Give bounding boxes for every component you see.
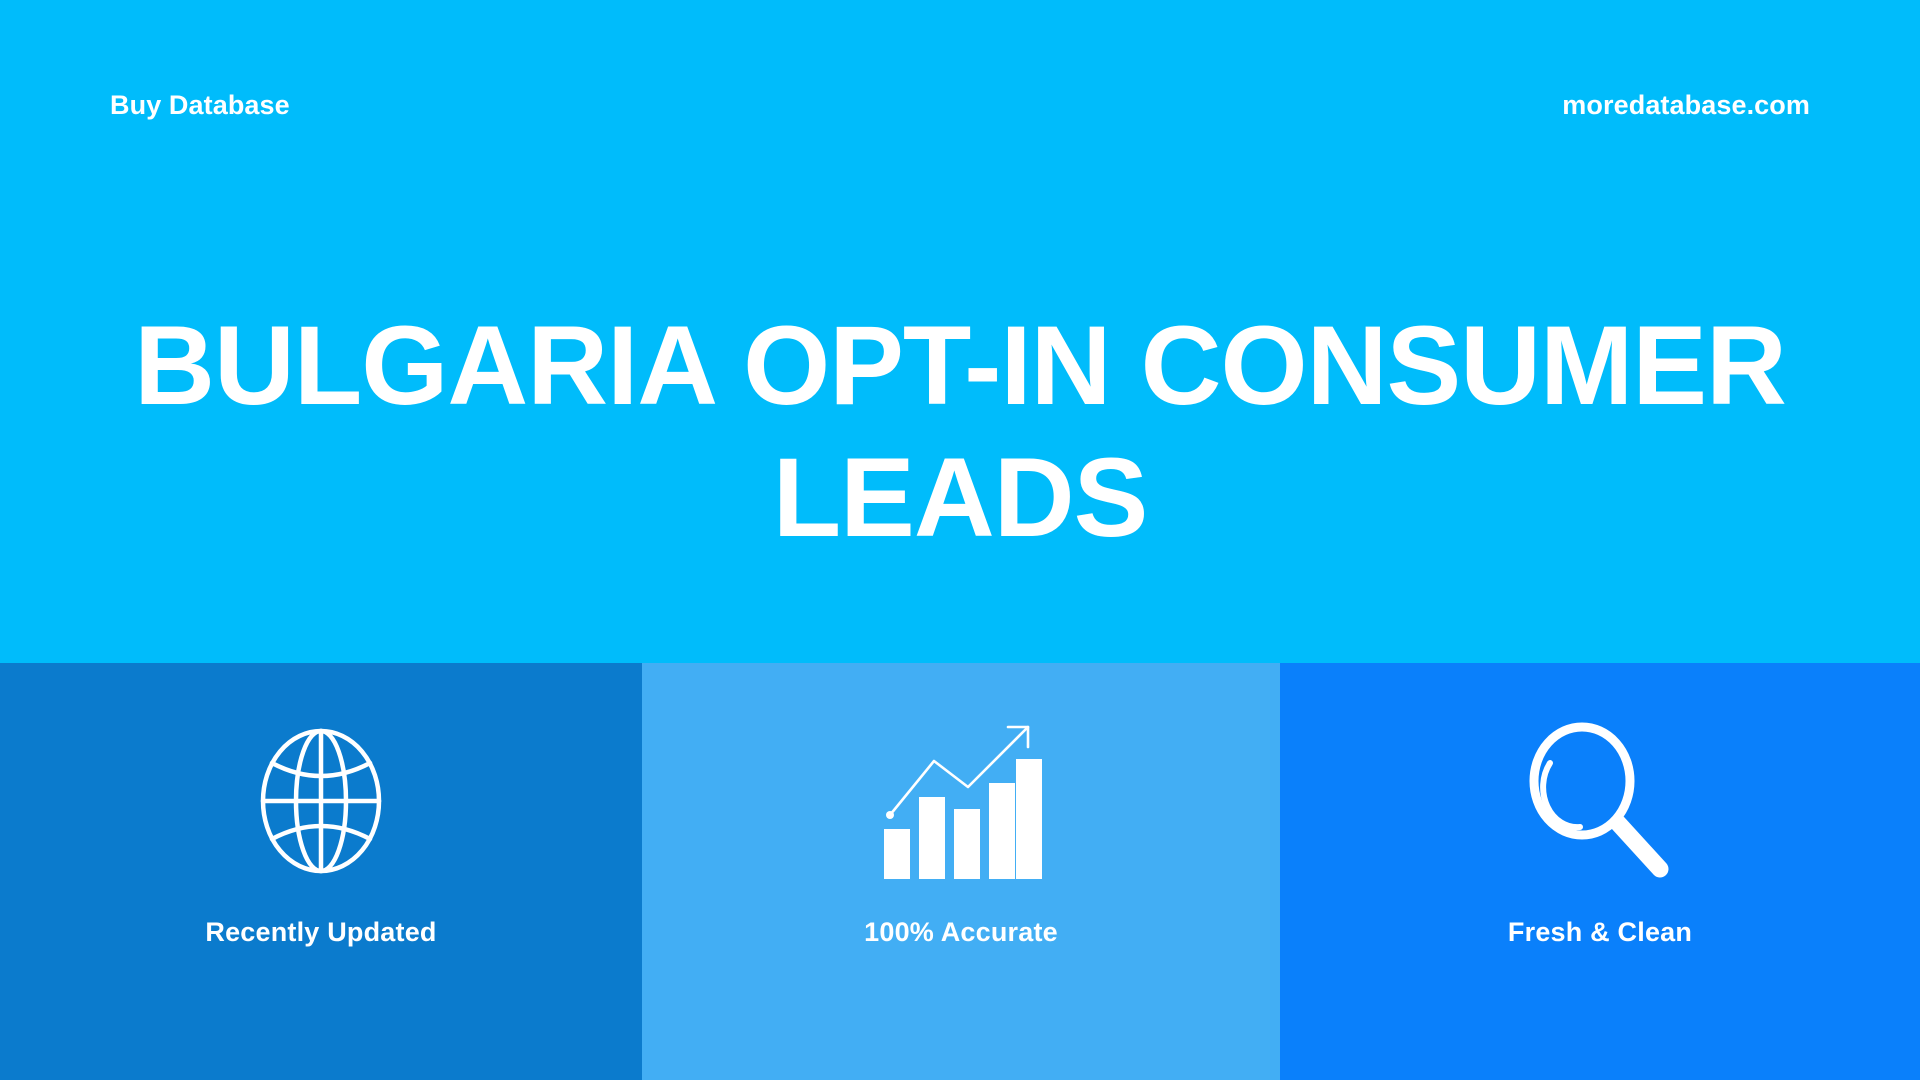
feature-strip: Recently Updated [0,663,1920,1080]
site-url-label: moredatabase.com [1562,90,1810,121]
hero-section: Buy Database moredatabase.com Bulgaria O… [0,0,1920,663]
magnifier-icon [1520,721,1680,881]
feature-label: Recently Updated [205,917,436,948]
feature-card-accurate: 100% Accurate [642,663,1280,1080]
brand-label: Buy Database [110,90,290,121]
feature-label: 100% Accurate [864,917,1058,948]
globe-icon [246,721,396,881]
feature-card-recently-updated: Recently Updated [0,663,642,1080]
bar-chart-growth-icon [876,721,1046,881]
page-title: Bulgaria Opt-In Consumer Leads [60,300,1860,564]
feature-label: Fresh & Clean [1508,917,1692,948]
feature-card-fresh-clean: Fresh & Clean [1280,663,1920,1080]
hero-topbar: Buy Database moredatabase.com [0,0,1920,210]
promo-banner: Buy Database moredatabase.com Bulgaria O… [0,0,1920,1080]
